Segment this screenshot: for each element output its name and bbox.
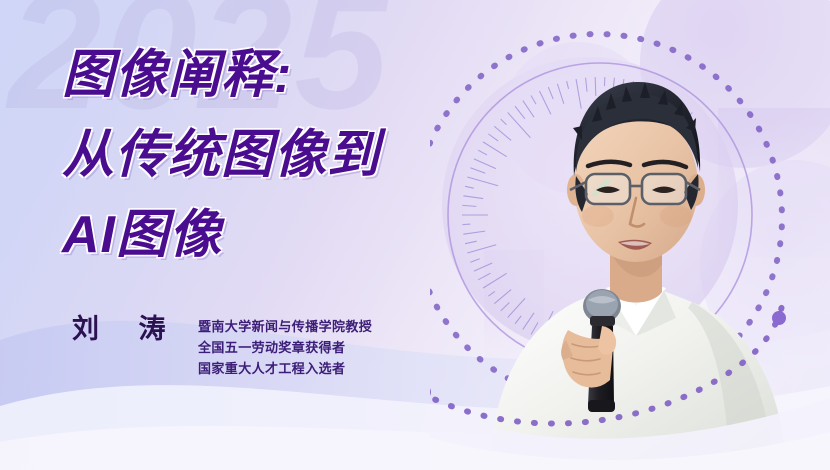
- title-line-1: 图像阐释:: [62, 46, 482, 104]
- credential-line-2: 全国五一劳动奖章获得者: [198, 337, 372, 358]
- lecture-poster: 2025: [0, 0, 830, 470]
- credential-line-3: 国家重大人才工程入选者: [198, 358, 372, 379]
- title-line-3: AI图像: [62, 206, 482, 264]
- speaker-name: 刘 涛: [72, 312, 190, 346]
- portrait-zone: [430, 0, 830, 470]
- poster-title: 图像阐释: 从传统图像到 AI图像: [62, 46, 482, 264]
- title-line-2: 从传统图像到: [62, 126, 482, 184]
- credential-line-1: 暨南大学新闻与传播学院教授: [198, 316, 372, 337]
- speaker-block: 刘 涛 暨南大学新闻与传播学院教授 全国五一劳动奖章获得者 国家重大人才工程入选…: [72, 312, 372, 379]
- speaker-credentials: 暨南大学新闻与传播学院教授 全国五一劳动奖章获得者 国家重大人才工程入选者: [198, 312, 372, 379]
